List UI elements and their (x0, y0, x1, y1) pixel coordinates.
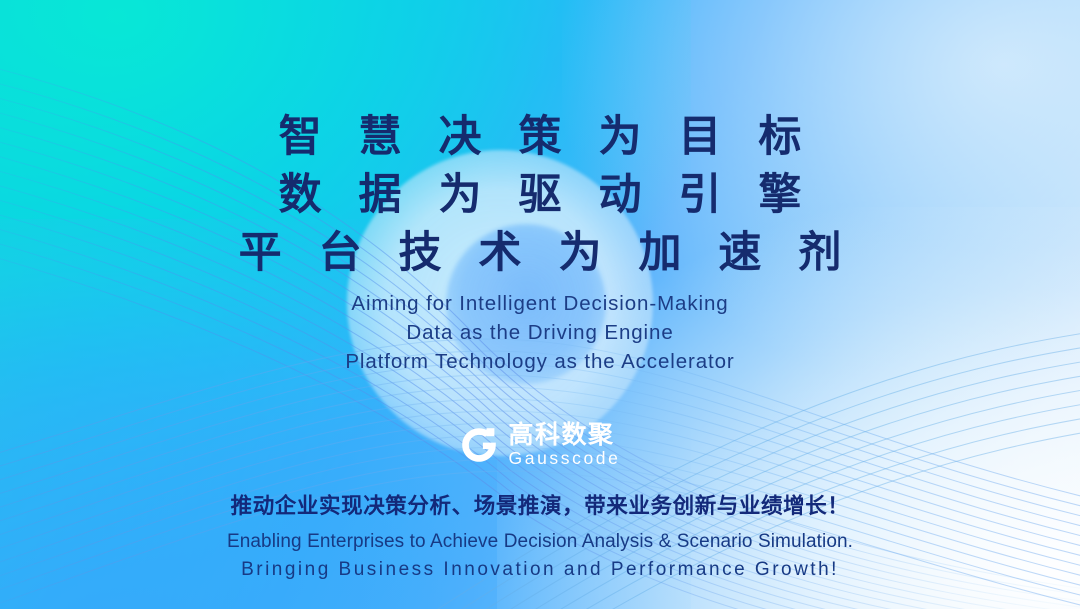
headline-line-3: 平 台 技 术 为 加 速 剂 (228, 224, 853, 282)
brand-name-cn: 高科数聚 (509, 422, 615, 447)
brand-name-en: Gausscode (509, 450, 621, 468)
brand-logo: 高科数聚 Gausscode (460, 422, 621, 468)
tagline-chinese: 推动企业实现决策分析、场景推演，带来业务创新与业绩增长！ (231, 489, 850, 520)
subtitle-line-1: Aiming for Intelligent Decision-Making (345, 289, 734, 318)
headline-line-1: 智 慧 决 策 为 目 标 (228, 108, 853, 166)
headline: 智 慧 决 策 为 目 标 数 据 为 驱 动 引 擎 平 台 技 术 为 加 … (228, 108, 853, 282)
subtitle-line-2: Data as the Driving Engine (345, 318, 734, 347)
subtitle-line-3: Platform Technology as the Accelerator (345, 347, 734, 376)
tagline-english-line-2: Bringing Business Innovation and Perform… (227, 557, 853, 583)
tagline-english: Enabling Enterprises to Achieve Decision… (227, 529, 853, 583)
brand-logo-text: 高科数聚 Gausscode (509, 422, 621, 468)
tagline-english-line-1: Enabling Enterprises to Achieve Decision… (227, 529, 853, 555)
banner-content: 智 慧 决 策 为 目 标 数 据 为 驱 动 引 擎 平 台 技 术 为 加 … (0, 0, 1080, 609)
banner-slide: 智 慧 决 策 为 目 标 数 据 为 驱 动 引 擎 平 台 技 术 为 加 … (0, 0, 1080, 609)
gausscode-g-mark-icon (460, 426, 498, 464)
subtitle-block: Aiming for Intelligent Decision-Making D… (345, 289, 734, 376)
headline-line-2: 数 据 为 驱 动 引 擎 (228, 166, 853, 224)
